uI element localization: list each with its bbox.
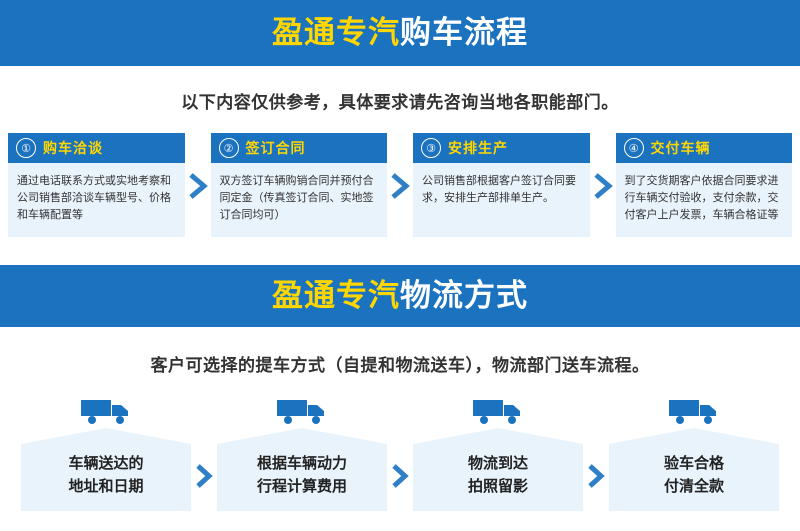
logistics-step-1: 车辆送达的 地址和日期: [21, 392, 191, 511]
section1-title-plain: 购车流程: [400, 15, 528, 51]
chevron-right-icon-1: [185, 173, 211, 199]
flow-step-3-body: 公司销售部根据客户签订合同要求，安排生产部排单生产。: [413, 163, 590, 237]
truck-icon: [667, 392, 721, 426]
purchase-flow-steps: ① 购车洽谈 通过电话联系方式或实地考察和公司销售部洽谈车辆型号、价格和车辆配置…: [0, 133, 800, 237]
logistics-step-2: 根据车辆动力 行程计算费用: [217, 392, 387, 511]
section1-title: 盈通专汽购车流程: [272, 18, 528, 49]
chevron-right-icon-3: [590, 173, 616, 199]
chevron-right-icon-2: [387, 173, 413, 199]
logistics-step-1-line1: 车辆送达的: [27, 452, 185, 475]
flow-step-2-header: ② 签订合同: [211, 133, 388, 163]
step-number-badge: ②: [219, 138, 239, 158]
flow-step-1-header: ① 购车洽谈: [8, 133, 185, 163]
logistics-step-1-line2: 地址和日期: [27, 475, 185, 498]
section-divider: [0, 237, 800, 265]
section1-subtitle: 以下内容仅供参考，具体要求请先咨询当地各职能部门。: [0, 66, 800, 133]
logistics-step-3: 物流到达 拍照留影: [413, 392, 583, 511]
logistics-step-2-line2: 行程计算费用: [223, 475, 381, 498]
section2-title-plain: 物流方式: [400, 278, 528, 314]
flow-step-1: ① 购车洽谈 通过电话联系方式或实地考察和公司销售部洽谈车辆型号、价格和车辆配置…: [8, 133, 185, 237]
logistics-step-3-line1: 物流到达: [419, 452, 577, 475]
logistics-step-2-line1: 根据车辆动力: [223, 452, 381, 475]
logistics-step-4-plate: 验车合格 付清全款: [609, 428, 779, 511]
logistics-step-3-plate: 物流到达 拍照留影: [413, 428, 583, 511]
logistics-flow-steps: 车辆送达的 地址和日期 根据车辆动力 行程计算费用: [0, 392, 800, 511]
flow-step-1-body: 通过电话联系方式或实地考察和公司销售部洽谈车辆型号、价格和车辆配置等: [8, 163, 185, 237]
step-number-badge: ③: [421, 138, 441, 158]
logistics-step-4-line1: 验车合格: [615, 452, 773, 475]
chevron-right-icon-5: [387, 464, 413, 488]
logistics-step-3-line2: 拍照留影: [419, 475, 577, 498]
flow-step-4-header: ④ 交付车辆: [616, 133, 793, 163]
logistics-step-1-plate: 车辆送达的 地址和日期: [21, 428, 191, 511]
flow-step-3-header: ③ 安排生产: [413, 133, 590, 163]
flow-step-3: ③ 安排生产 公司销售部根据客户签订合同要求，安排生产部排单生产。: [413, 133, 590, 237]
flow-step-4: ④ 交付车辆 到了交货期客户依据合同要求进行车辆交付验收，支付余款，交付客户上户…: [616, 133, 793, 237]
step-number-badge: ④: [624, 138, 644, 158]
flow-step-2-label: 签订合同: [246, 138, 306, 158]
flow-step-4-body: 到了交货期客户依据合同要求进行车辆交付验收，支付余款，交付客户上户发票，车辆合格…: [616, 163, 793, 237]
chevron-right-icon-6: [583, 464, 609, 488]
flow-step-2: ② 签订合同 双方签订车辆购销合同并预付合同定金（传真签订合同、实地签订合同均可…: [211, 133, 388, 237]
flow-step-1-label: 购车洽谈: [43, 138, 103, 158]
truck-icon: [275, 392, 329, 426]
truck-icon: [79, 392, 133, 426]
section2-header-band: 盈通专汽物流方式: [0, 265, 800, 327]
step-number-badge: ①: [16, 138, 36, 158]
logistics-step-4: 验车合格 付清全款: [609, 392, 779, 511]
section2-title-accent: 盈通专汽: [272, 278, 400, 314]
section2-subtitle: 客户可选择的提车方式（自提和物流送车），物流部门送车流程。: [0, 327, 800, 392]
logistics-step-2-plate: 根据车辆动力 行程计算费用: [217, 428, 387, 511]
chevron-right-icon-4: [191, 464, 217, 488]
flow-step-4-label: 交付车辆: [651, 138, 711, 158]
section2-title: 盈通专汽物流方式: [272, 281, 528, 312]
flow-step-3-label: 安排生产: [448, 138, 508, 158]
flow-step-2-body: 双方签订车辆购销合同并预付合同定金（传真签订合同、实地签订合同均可）: [211, 163, 388, 237]
truck-icon: [471, 392, 525, 426]
section1-header-band: 盈通专汽购车流程: [0, 0, 800, 66]
logistics-step-4-line2: 付清全款: [615, 475, 773, 498]
section1-title-accent: 盈通专汽: [272, 15, 400, 51]
